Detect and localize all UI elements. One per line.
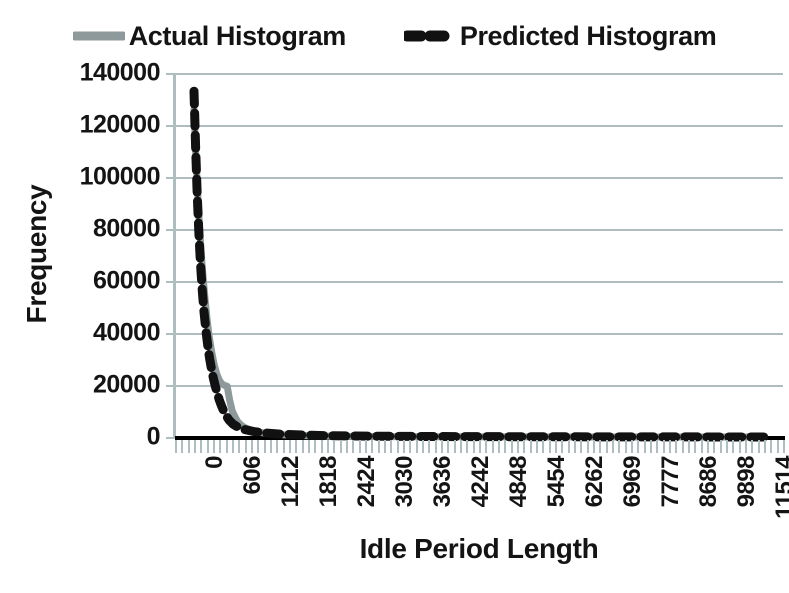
x-axis-title: Idle Period Length xyxy=(175,533,783,565)
x-tick-mark xyxy=(245,440,247,453)
x-tick-mark xyxy=(340,440,342,453)
x-tick-mark xyxy=(226,440,228,453)
x-tick-mark xyxy=(751,440,753,453)
x-tick-mark xyxy=(422,440,424,453)
x-tick-mark xyxy=(688,440,690,453)
x-tick-mark xyxy=(777,440,779,453)
x-tick-mark xyxy=(283,440,285,453)
x-tick-mark xyxy=(650,440,652,453)
x-tick-mark xyxy=(612,440,614,453)
x-tick-mark xyxy=(188,440,190,453)
x-tick-mark xyxy=(371,440,373,453)
x-tick-mark xyxy=(219,440,221,453)
x-tick-mark xyxy=(770,440,772,453)
series-layer xyxy=(175,73,783,437)
x-tick-mark xyxy=(568,440,570,453)
x-tick-mark xyxy=(175,440,177,453)
x-tick-mark xyxy=(707,440,709,453)
x-tick-label-13: 8686 xyxy=(697,456,721,507)
x-tick-mark xyxy=(593,440,595,453)
x-tick-mark xyxy=(758,440,760,453)
x-tick-mark xyxy=(384,440,386,453)
y-tick-label-4: 80000 xyxy=(93,217,160,242)
x-tick-mark xyxy=(561,440,563,453)
y-tick-label-2: 40000 xyxy=(93,321,160,346)
x-tick-label-7: 4242 xyxy=(469,456,493,507)
x-tick-mark xyxy=(492,440,494,453)
legend-label-predicted: Predicted Histogram xyxy=(460,23,716,50)
x-tick-mark xyxy=(346,440,348,453)
x-tick-mark xyxy=(656,440,658,453)
x-tick-mark xyxy=(251,440,253,453)
x-tick-mark xyxy=(359,440,361,453)
y-tick-label-5: 100000 xyxy=(80,165,160,190)
x-tick-mark xyxy=(194,440,196,453)
x-tick-label-4: 2424 xyxy=(355,456,379,507)
x-tick-mark xyxy=(713,440,715,453)
x-tick-label-5: 3030 xyxy=(393,456,417,507)
x-tick-mark xyxy=(606,440,608,453)
x-tick-mark xyxy=(720,440,722,453)
y-tick-label-7: 140000 xyxy=(80,61,160,86)
x-tick-mark xyxy=(207,440,209,453)
x-tick-mark xyxy=(409,440,411,453)
x-tick-mark xyxy=(504,440,506,453)
x-tick-mark xyxy=(276,440,278,453)
x-tick-mark xyxy=(542,440,544,453)
x-tick-label-10: 6262 xyxy=(583,456,607,507)
x-tick-mark xyxy=(511,440,513,453)
x-tick-mark xyxy=(435,440,437,453)
x-tick-mark xyxy=(764,440,766,453)
x-tick-mark xyxy=(238,440,240,453)
x-tick-mark xyxy=(397,440,399,453)
x-tick-mark xyxy=(523,440,525,453)
x-tick-mark xyxy=(257,440,259,453)
x-tick-mark xyxy=(314,440,316,453)
x-tick-mark xyxy=(574,440,576,453)
x-tick-mark xyxy=(327,440,329,453)
x-tick-mark xyxy=(466,440,468,453)
x-tick-mark xyxy=(549,440,551,453)
x-tick-mark xyxy=(783,440,785,453)
x-tick-label-9: 5454 xyxy=(545,456,569,507)
x-tick-mark xyxy=(675,440,677,453)
x-tick-mark xyxy=(555,440,557,453)
x-tick-mark xyxy=(352,440,354,453)
x-tick-mark xyxy=(447,440,449,453)
x-tick-mark xyxy=(739,440,741,453)
y-tick-label-6: 120000 xyxy=(80,113,160,138)
y-tick-label-1: 20000 xyxy=(93,373,160,398)
x-tick-mark xyxy=(599,440,601,453)
x-tick-mark xyxy=(644,440,646,453)
x-tick-mark xyxy=(701,440,703,453)
x-tick-mark xyxy=(485,440,487,453)
x-tick-label-11: 6969 xyxy=(621,456,645,507)
x-tick-mark xyxy=(473,440,475,453)
y-axis-title: Frequency xyxy=(21,154,53,354)
x-tick-mark xyxy=(631,440,633,453)
solid-line-swatch-icon xyxy=(73,25,125,47)
x-tick-label-2: 1212 xyxy=(279,456,303,507)
series-line-predicted xyxy=(194,91,764,437)
x-tick-mark xyxy=(321,440,323,453)
x-axis-ticks xyxy=(175,440,783,454)
x-tick-label-8: 4848 xyxy=(507,456,531,507)
x-tick-label-15: 11514 xyxy=(773,456,789,519)
x-tick-mark xyxy=(745,440,747,453)
x-tick-mark xyxy=(663,440,665,453)
dashed-line-swatch-icon xyxy=(404,25,456,47)
x-tick-mark xyxy=(454,440,456,453)
x-tick-mark xyxy=(682,440,684,453)
x-tick-mark xyxy=(637,440,639,453)
x-tick-mark xyxy=(308,440,310,453)
x-tick-mark xyxy=(479,440,481,453)
x-tick-mark xyxy=(460,440,462,453)
legend-entry-actual: Actual Histogram xyxy=(73,23,346,50)
x-tick-label-3: 1818 xyxy=(317,456,341,507)
y-tick-label-0: 0 xyxy=(147,425,160,450)
x-tick-label-0: 0 xyxy=(203,456,227,469)
x-tick-mark xyxy=(732,440,734,453)
x-tick-mark xyxy=(726,440,728,453)
x-tick-mark xyxy=(694,440,696,453)
legend-entry-predicted: Predicted Histogram xyxy=(404,23,716,50)
chart-legend: Actual Histogram Predicted Histogram xyxy=(0,14,789,58)
x-tick-mark xyxy=(390,440,392,453)
x-tick-mark xyxy=(378,440,380,453)
x-tick-mark xyxy=(625,440,627,453)
x-tick-mark xyxy=(333,440,335,453)
series-line-actual xyxy=(194,109,764,437)
x-tick-mark xyxy=(517,440,519,453)
x-tick-mark xyxy=(403,440,405,453)
x-tick-mark xyxy=(441,440,443,453)
x-tick-mark xyxy=(295,440,297,453)
x-tick-mark xyxy=(669,440,671,453)
x-tick-label-1: 606 xyxy=(241,456,265,495)
chart-container: Actual Histogram Predicted Histogram 0 2… xyxy=(0,0,789,593)
x-tick-mark xyxy=(530,440,532,453)
x-tick-mark xyxy=(264,440,266,453)
x-tick-mark xyxy=(428,440,430,453)
x-tick-mark xyxy=(213,440,215,453)
x-tick-label-12: 7777 xyxy=(659,456,683,507)
x-tick-mark xyxy=(289,440,291,453)
x-tick-label-14: 9898 xyxy=(735,456,759,507)
x-tick-mark xyxy=(232,440,234,453)
x-tick-mark xyxy=(587,440,589,453)
x-tick-mark xyxy=(302,440,304,453)
x-tick-mark xyxy=(416,440,418,453)
x-tick-mark xyxy=(536,440,538,453)
x-tick-mark xyxy=(181,440,183,453)
y-tick-label-3: 60000 xyxy=(93,269,160,294)
x-tick-label-6: 3636 xyxy=(431,456,455,507)
x-tick-mark xyxy=(580,440,582,453)
x-tick-mark xyxy=(365,440,367,453)
x-tick-mark xyxy=(200,440,202,453)
x-tick-mark xyxy=(618,440,620,453)
x-tick-mark xyxy=(498,440,500,453)
legend-label-actual: Actual Histogram xyxy=(129,23,346,50)
x-tick-mark xyxy=(270,440,272,453)
